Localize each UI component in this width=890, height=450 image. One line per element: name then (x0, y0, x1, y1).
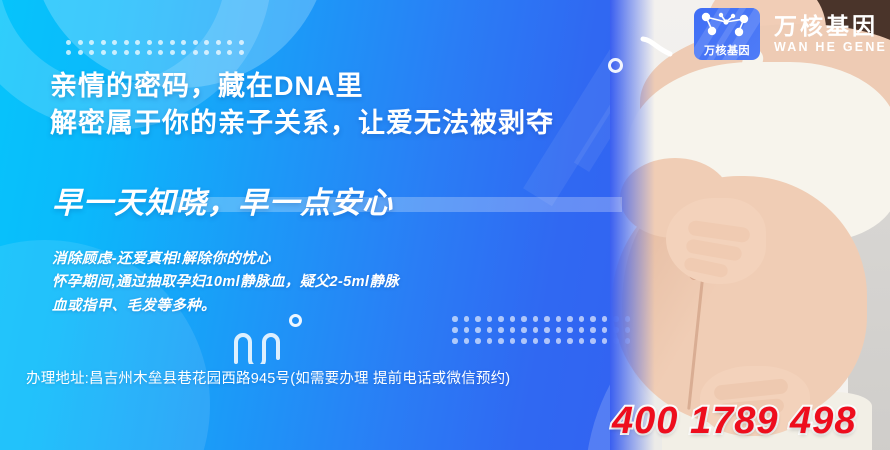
grid-dot (521, 327, 527, 333)
grid-dot (239, 40, 244, 45)
grid-dot (556, 327, 562, 333)
grid-dot (101, 50, 106, 55)
address-line: 办理地址:昌吉州木垒县巷花园西路945号(如需要办理 提前电话或微信预约) (26, 370, 510, 389)
logo-text-block: 万核基因 WAN HE GENE (774, 13, 887, 54)
grid-dot (521, 338, 527, 344)
grid-dot (227, 50, 232, 55)
headline-line-1: 亲情的密码，藏在DNA里 (50, 68, 554, 105)
grid-dot (464, 316, 470, 322)
grid-dot (590, 327, 596, 333)
grid-dot (533, 316, 539, 322)
grid-dot (510, 327, 516, 333)
grid-dot (556, 316, 562, 322)
grid-dot (533, 338, 539, 344)
logo-name-cn: 万核基因 (774, 13, 887, 39)
grid-dot (602, 338, 608, 344)
grid-dot (464, 327, 470, 333)
curve-stroke-icon (640, 36, 674, 63)
grid-dot (147, 40, 152, 45)
grid-dot (475, 327, 481, 333)
grid-dot (89, 40, 94, 45)
grid-dot (78, 40, 83, 45)
grid-dot (101, 40, 106, 45)
grid-dot (112, 50, 117, 55)
grid-dot (452, 338, 458, 344)
headline: 亲情的密码，藏在DNA里 解密属于你的亲子关系，让爱无法被剥夺 (50, 68, 554, 143)
grid-dot (135, 50, 140, 55)
grid-dot (124, 50, 129, 55)
grid-dot (66, 40, 71, 45)
phone-number[interactable]: 400 1789 498 (612, 402, 856, 440)
grid-dot (78, 50, 83, 55)
grid-dot (216, 50, 221, 55)
grid-dot (464, 338, 470, 344)
grid-dot (544, 316, 550, 322)
grid-dot (124, 40, 129, 45)
photo-left-fade (610, 0, 890, 450)
grid-dot (181, 40, 186, 45)
grid-dot (193, 50, 198, 55)
grid-dot (567, 316, 573, 322)
headline-line-2: 解密属于你的亲子关系，让爱无法被剥夺 (50, 105, 554, 142)
grid-dot (510, 316, 516, 322)
grid-dot (170, 50, 175, 55)
grid-dot (510, 338, 516, 344)
grid-dot (544, 338, 550, 344)
grid-dot (193, 40, 198, 45)
decorative-dot-grid-top (66, 40, 250, 60)
grid-dot (579, 327, 585, 333)
grid-dot (487, 316, 493, 322)
grid-dot (147, 50, 152, 55)
grid-dot (135, 40, 140, 45)
grid-dot (66, 50, 71, 55)
grid-dot (475, 338, 481, 344)
grid-dot (452, 316, 458, 322)
grid-dot (239, 50, 244, 55)
grid-dot (158, 40, 163, 45)
grid-dot (556, 338, 562, 344)
grid-dot (579, 338, 585, 344)
grid-dot (521, 316, 527, 322)
grid-dot (452, 327, 458, 333)
molecule-network-icon: 万核基因 (694, 8, 760, 60)
decorative-dot-grid-mid (452, 316, 636, 349)
grid-dot (89, 50, 94, 55)
grid-dot (567, 338, 573, 344)
body-copy-line-2: 怀孕期间,通过抽取孕妇10ml静脉血，疑父2-5ml静脉 (52, 271, 399, 294)
promo-banner: 万核基因 万核基因 WAN HE GENE 亲情的密码，藏在DNA里 解密属于你… (0, 0, 890, 450)
grid-dot (204, 40, 209, 45)
grid-dot (112, 40, 117, 45)
grid-dot (487, 338, 493, 344)
grid-dot (181, 50, 186, 55)
subheadline-text: 早一天知晓，早一点安心 (52, 186, 393, 223)
grid-dot (498, 338, 504, 344)
wave-coil-icon (232, 330, 290, 369)
ring-circle-icon (608, 58, 623, 73)
grid-dot (216, 40, 221, 45)
grid-dot (204, 50, 209, 55)
grid-dot (227, 40, 232, 45)
grid-dot (487, 327, 493, 333)
grid-dot (590, 338, 596, 344)
grid-dot (602, 316, 608, 322)
grid-dot (590, 316, 596, 322)
grid-dot (498, 327, 504, 333)
grid-dot (544, 327, 550, 333)
logo-name-en: WAN HE GENE (774, 40, 887, 55)
grid-dot (602, 327, 608, 333)
body-copy: 消除顾虑-还爱真相!解除你的忧心 怀孕期间,通过抽取孕妇10ml静脉血，疑父2-… (52, 248, 399, 318)
grid-dot (579, 316, 585, 322)
grid-dot (170, 40, 175, 45)
grid-dot (158, 50, 163, 55)
body-copy-line-1: 消除顾虑-还爱真相!解除你的忧心 (52, 248, 399, 271)
pregnant-woman-photo (610, 0, 890, 450)
grid-dot (498, 316, 504, 322)
brand-logo[interactable]: 万核基因 万核基因 WAN HE GENE (694, 8, 887, 60)
subheadline-block: 早一天知晓，早一点安心 (52, 186, 393, 223)
body-copy-line-3: 血或指甲、毛发等多种。 (52, 295, 399, 318)
grid-dot (475, 316, 481, 322)
grid-dot (567, 327, 573, 333)
logo-mark-label: 万核基因 (694, 46, 760, 57)
grid-dot (533, 327, 539, 333)
